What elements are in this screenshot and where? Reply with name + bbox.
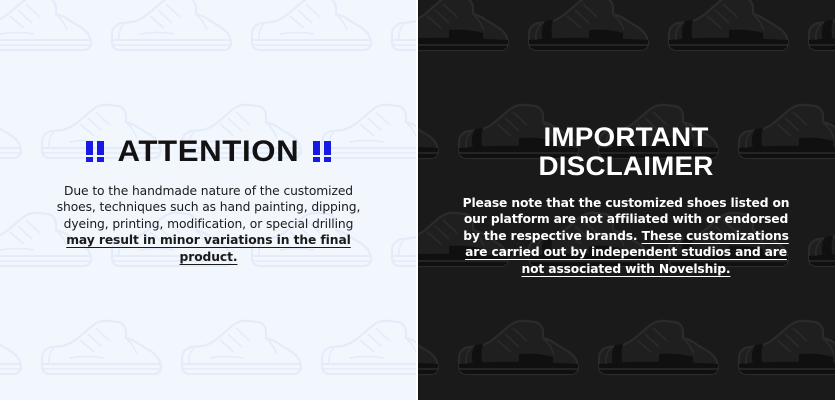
panel-divider bbox=[416, 0, 418, 400]
attention-body-line-1: Due to the handmade nature of the custom… bbox=[64, 184, 353, 198]
disclaimer-content: IMPORTANT DISCLAIMER Please note that th… bbox=[417, 123, 835, 278]
double-exclamation-left-icon bbox=[86, 141, 104, 162]
disclaimer-heading-line-1: IMPORTANT bbox=[538, 123, 713, 152]
double-exclamation-right-icon bbox=[313, 141, 331, 162]
customization-disclaimer-banner: ATTENTION Due to the handmade nature of … bbox=[0, 0, 835, 400]
disclaimer-body-line-1: Please note that the customized shoes li… bbox=[463, 196, 790, 210]
disclaimer-heading-line-2: DISCLAIMER bbox=[538, 152, 713, 181]
disclaimer-body-line-3: the respective brands. bbox=[484, 229, 638, 243]
disclaimer-panel: IMPORTANT DISCLAIMER Please note that th… bbox=[417, 0, 835, 400]
attention-panel: ATTENTION Due to the handmade nature of … bbox=[0, 0, 417, 400]
attention-body-line-2: shoes, techniques such as hand painting,… bbox=[57, 200, 361, 214]
attention-heading: ATTENTION bbox=[118, 135, 300, 169]
attention-body-line-3: dyeing, printing, modification, or speci… bbox=[64, 217, 354, 231]
disclaimer-body: Please note that the customized shoes li… bbox=[461, 195, 791, 278]
disclaimer-heading: IMPORTANT DISCLAIMER bbox=[538, 123, 713, 181]
attention-heading-row: ATTENTION bbox=[86, 135, 331, 169]
attention-body: Due to the handmade nature of the custom… bbox=[53, 183, 365, 266]
attention-content: ATTENTION Due to the handmade nature of … bbox=[0, 135, 417, 266]
attention-body-emphasis: may result in minor variations in the fi… bbox=[66, 233, 351, 264]
